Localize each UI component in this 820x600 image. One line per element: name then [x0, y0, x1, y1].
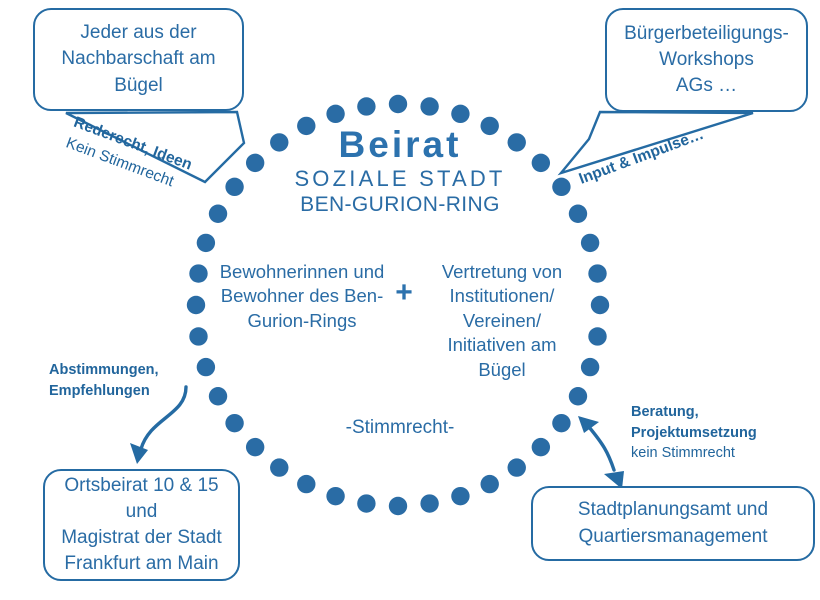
plus-icon: + [386, 258, 422, 308]
member-line: Vertretung [442, 261, 527, 282]
relation-label-regular: kein Stimmrecht [631, 443, 757, 464]
relation-label-beratung: Beratung, Projektumsetzung kein Stimmrec… [631, 402, 757, 464]
callout-line: Stadtplanungsamt und [578, 497, 768, 523]
relation-label-abstimmungen: Abstimmungen, Empfehlungen [49, 360, 159, 402]
callout-line: Nachbarschaft am [61, 46, 215, 72]
relation-label-bold: Projektumsetzung [631, 423, 757, 444]
callout-box-planning-office[interactable]: Stadtplanungsamt und Quartiersmanagement [531, 486, 815, 561]
member-line: Vereinen/ [463, 310, 541, 331]
arrow-abstimmungen-head [130, 443, 148, 464]
ring-dot [508, 458, 526, 476]
ring-dot [389, 95, 407, 113]
callout-line: Frankfurt am Main [61, 551, 222, 577]
diagram-title: Beirat [200, 126, 600, 163]
diagram-subtitle: SOZIALE STADT [200, 166, 600, 192]
relation-label-bold: Empfehlungen [49, 381, 159, 402]
callout-box-participation[interactable]: Bürgerbeteiligungs- Workshops AGs … [605, 8, 808, 112]
callout-line: Ortsbeirat 10 & 15 [61, 473, 222, 499]
ring-dot [420, 97, 438, 115]
callout-line: Bürgerbeteiligungs- [624, 21, 789, 47]
callout-line: Quartiersmanagement [578, 524, 768, 550]
member-line: von [532, 261, 562, 282]
relation-label-bold: Abstimmungen, [49, 360, 159, 381]
ring-dot [357, 494, 375, 512]
callout-line: Magistrat der Stadt [61, 525, 222, 551]
ring-dot [420, 494, 438, 512]
ring-dot [389, 497, 407, 515]
callout-line: Jeder aus der [61, 20, 215, 46]
members-column-residents: Bewohnerinnen und Bewohner des Ben-Gurio… [218, 258, 386, 333]
callout-line: Workshops [624, 47, 789, 73]
callout-line: und [61, 499, 222, 525]
ring-dot [326, 487, 344, 505]
diagram-subtitle-location: BEN-GURION-RING [200, 192, 600, 217]
relation-label-bold: Beratung, [631, 402, 757, 423]
diagram-canvas: Jeder aus der Nachbarschaft am Bügel Bür… [0, 0, 820, 600]
voting-rights-note: -Stimmrecht- [200, 417, 600, 439]
ring-dot [270, 458, 288, 476]
callout-box-neighbourhood[interactable]: Jeder aus der Nachbarschaft am Bügel [33, 8, 244, 111]
circle-content: Beirat SOZIALE STADT BEN-GURION-RING Bew… [200, 118, 600, 458]
membership-composition: Bewohnerinnen und Bewohner des Ben-Gurio… [200, 258, 600, 382]
callout-box-local-council[interactable]: Ortsbeirat 10 & 15 und Magistrat der Sta… [43, 469, 240, 581]
callout-line: Bügel [61, 73, 215, 99]
ring-dot [357, 97, 375, 115]
member-line: des [309, 285, 339, 306]
member-line: Bewohnerinnen [220, 261, 349, 282]
member-line: Initiativen [448, 334, 526, 355]
ring-dot [451, 487, 469, 505]
member-line: Institutionen/ [450, 285, 555, 306]
ring-dot [481, 475, 499, 493]
callout-line: AGs … [624, 73, 789, 99]
ring-dot [297, 475, 315, 493]
members-column-institutions: Vertretung von Institutionen/ Vereinen/ … [422, 258, 582, 382]
